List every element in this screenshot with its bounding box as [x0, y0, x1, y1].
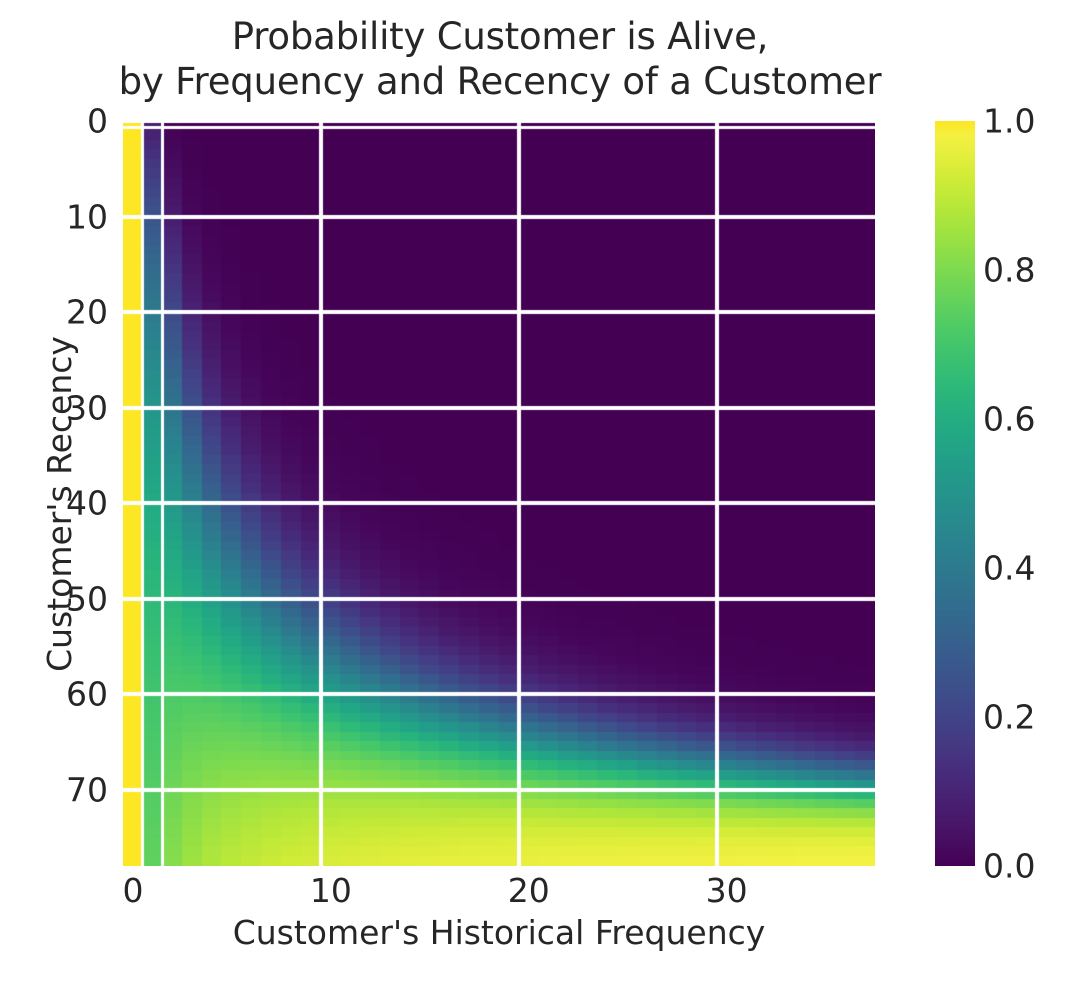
heatmap-image [123, 121, 875, 866]
colorbar-tick-label: 0.2 [983, 701, 1035, 734]
x-tick-label: 30 [706, 874, 748, 907]
colorbar-tick-label: 0.6 [983, 403, 1035, 436]
x-tick-label: 0 [123, 874, 144, 907]
y-axis-label: Customer's Recency [42, 89, 78, 919]
chart-title: Probability Customer is Alive, by Freque… [0, 14, 1000, 104]
colorbar [935, 121, 975, 866]
heatmap-plot-area [123, 121, 875, 866]
colorbar-tick-label: 0.8 [983, 254, 1035, 287]
matplotlib-figure: Probability Customer is Alive, by Freque… [0, 0, 1065, 983]
colorbar-tick-label: 1.0 [983, 105, 1035, 138]
x-axis-label: Customer's Historical Frequency [123, 915, 875, 951]
colorbar-gradient [935, 121, 975, 866]
colorbar-tick-label: 0.0 [983, 850, 1035, 883]
x-tick-label: 20 [508, 874, 550, 907]
colorbar-tick-label: 0.4 [983, 552, 1035, 585]
x-tick-label: 10 [310, 874, 352, 907]
